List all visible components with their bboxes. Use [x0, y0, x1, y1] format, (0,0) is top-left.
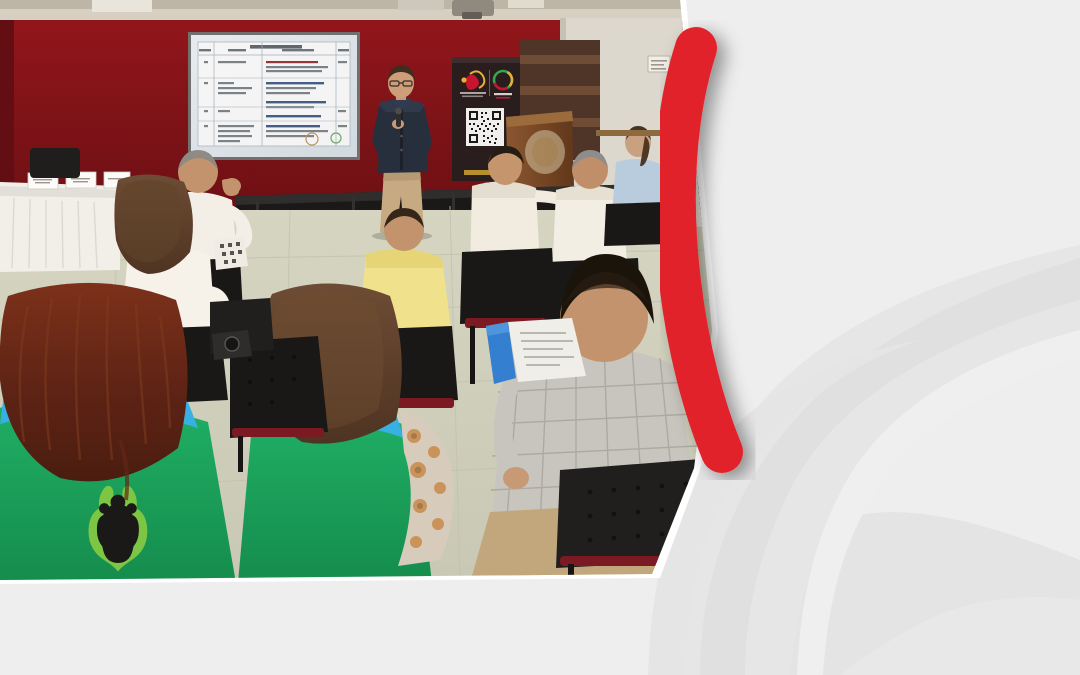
conference-photo — [0, 0, 714, 583]
photo-frame — [0, 0, 730, 600]
red-accent-arc — [660, 20, 800, 480]
composition-canvas: Conference room audience watching a pres… — [0, 0, 1080, 675]
